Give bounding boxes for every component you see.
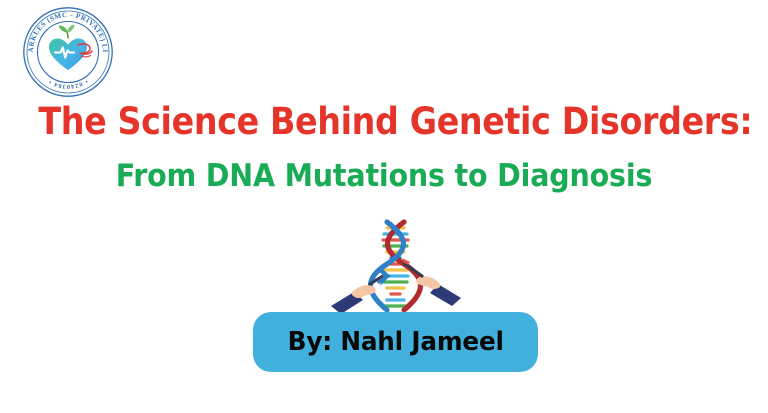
presentation-slide: MEDSPARKLES (SMC - PRIVATE) LIMITED • 02… xyxy=(0,0,768,413)
page-subtitle: From DNA Mutations to Diagnosis xyxy=(31,158,738,194)
page-title: The Science Behind Genetic Disorders: xyxy=(38,100,729,144)
dna-gene-editing-illustration xyxy=(330,214,462,322)
medsparkles-logo: MEDSPARKLES (SMC - PRIVATE) LIMITED • 02… xyxy=(22,6,114,98)
title-block: The Science Behind Genetic Disorders: Fr… xyxy=(0,100,768,194)
author-badge: By: Nahl Jameel xyxy=(253,312,538,372)
author-name: By: Nahl Jameel xyxy=(287,327,503,357)
right-hand-with-tool xyxy=(402,258,461,306)
